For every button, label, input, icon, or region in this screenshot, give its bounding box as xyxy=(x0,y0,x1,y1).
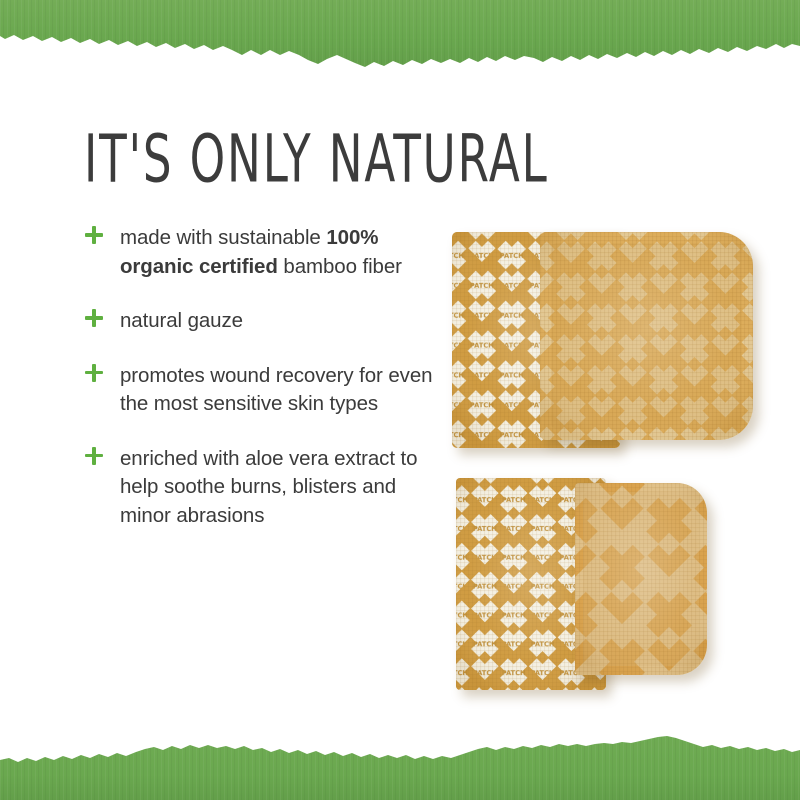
bandage-surface xyxy=(540,232,753,440)
feature-text: promotes wound recovery for even the mos… xyxy=(120,364,432,416)
list-item: natural gauze xyxy=(84,307,434,336)
product-image-group: PATCH PATCH PATCH PATCH xyxy=(440,215,780,705)
feature-text: enriched with aloe vera extract to help … xyxy=(120,447,417,527)
torn-paper-band-bottom xyxy=(0,736,800,800)
feature-list: made with sustainable 100% organic certi… xyxy=(84,224,434,530)
page-title: IT'S ONLY NATURAL xyxy=(84,124,549,195)
feature-text-tail: bamboo fiber xyxy=(278,255,402,278)
plus-icon xyxy=(84,446,104,466)
list-item: made with sustainable 100% organic certi… xyxy=(84,224,434,281)
feature-text: made with sustainable 100% organic certi… xyxy=(120,226,402,278)
list-item: promotes wound recovery for even the mos… xyxy=(84,362,434,419)
list-item: enriched with aloe vera extract to help … xyxy=(84,445,434,531)
torn-paper-band-top xyxy=(0,0,800,72)
feature-text: natural gauze xyxy=(120,309,243,332)
bandage-surface xyxy=(575,483,707,675)
plus-icon xyxy=(84,225,104,245)
plus-icon xyxy=(84,363,104,383)
square-bandage-gauze-front xyxy=(540,232,753,440)
feature-text-lead: made with sustainable xyxy=(120,226,326,249)
rect-bandage-gauze-front xyxy=(575,483,707,675)
plus-icon xyxy=(84,308,104,328)
